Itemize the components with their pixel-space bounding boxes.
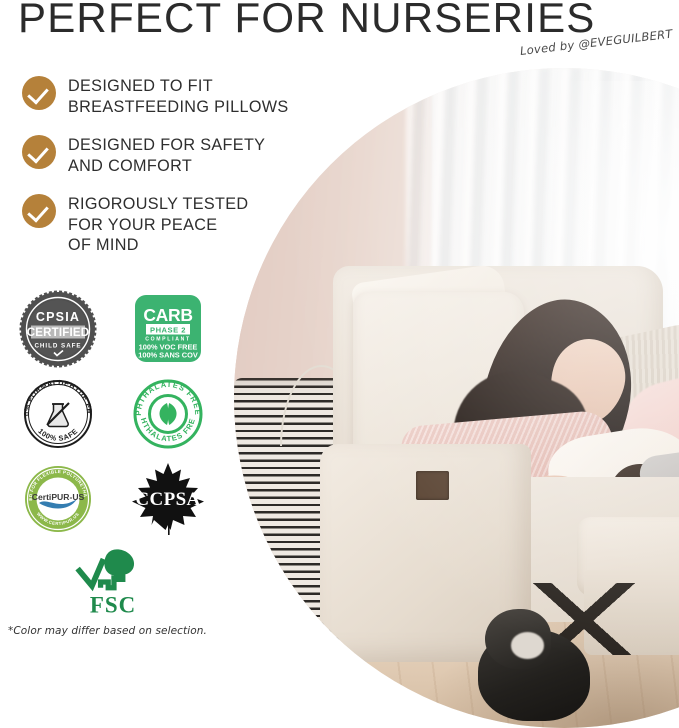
certipur-center-label: CertiPUR-US xyxy=(32,492,85,502)
certipur-us-badge-icon: CERTIFIED FOR FLEXIBLE POLYURETHANE FOAM… xyxy=(16,459,100,539)
ccpsa-maple-leaf-badge-icon: CCPSA xyxy=(126,459,210,539)
fsc-tree-shape xyxy=(78,549,134,587)
leaf-icon xyxy=(160,403,177,425)
feature-bullet-1-label: DESIGNED TO FIT BREASTFEEDING PILLOWS xyxy=(68,74,289,117)
badge-row-4: FSC xyxy=(14,541,212,621)
badge-certipur: CERTIFIED FOR FLEXIBLE POLYURETHANE FOAM… xyxy=(14,459,102,539)
badge-row-3: CERTIFIED FOR FLEXIBLE POLYURETHANE FOAM… xyxy=(14,456,214,541)
flask-icon xyxy=(47,403,69,427)
badge-phthalates: PHTHALATES FREE PHTHALATES FREE xyxy=(124,374,212,454)
lifestyle-photo-circle xyxy=(234,68,679,728)
feature-bullet-2-label: DESIGNED FOR SAFETY AND COMFORT xyxy=(68,133,265,176)
photo-dog-marking xyxy=(511,632,544,658)
carb-line2: PHASE 2 xyxy=(150,325,186,334)
badge-row-1: CPSIA CERTIFIED CHILD SAFE CARB PHASE 2 … xyxy=(14,286,214,371)
ccpsa-label: CCPSA xyxy=(135,489,200,510)
cpsia-certified-badge-icon: CPSIA CERTIFIED CHILD SAFE xyxy=(15,289,101,369)
check-circle-icon xyxy=(22,135,56,169)
fsc-label: FSC xyxy=(90,593,136,618)
color-disclaimer: *Color may differ based on selection. xyxy=(8,625,207,637)
badge-carb: CARB PHASE 2 COMPLIANT 100% VOC FREE 100… xyxy=(124,289,212,369)
badge-cpsia: CPSIA CERTIFIED CHILD SAFE xyxy=(14,289,102,369)
feature-bullet-3: RIGOROUSLY TESTED FOR YOUR PEACE OF MIND xyxy=(22,192,290,256)
formaldehyde-arc-bottom: 100% SAFE xyxy=(36,426,79,442)
carb-phase-2-badge-icon: CARB PHASE 2 COMPLIANT 100% VOC FREE 100… xyxy=(131,294,205,364)
cpsia-line3: CHILD SAFE xyxy=(34,342,81,349)
carb-line1: CARB xyxy=(143,305,192,325)
feature-bullet-3-label: RIGOROUSLY TESTED FOR YOUR PEACE OF MIND xyxy=(68,192,248,256)
carb-line5: 100% SANS COV xyxy=(138,350,198,359)
certification-badge-grid: CPSIA CERTIFIED CHILD SAFE CARB PHASE 2 … xyxy=(14,286,214,621)
badge-ccpsa: CCPSA xyxy=(124,459,212,539)
photo-recliner-power-button xyxy=(416,471,449,501)
page-title: PERFECT FOR NURSERIES xyxy=(18,0,596,42)
check-circle-icon xyxy=(22,76,56,110)
fsc-tree-badge-icon: FSC xyxy=(69,542,157,620)
cpsia-line1: CPSIA xyxy=(36,310,80,324)
phthalates-free-badge-icon: PHTHALATES FREE PHTHALATES FREE xyxy=(127,375,209,453)
feature-bullet-2: DESIGNED FOR SAFETY AND COMFORT xyxy=(22,133,290,176)
formaldehyde-free-badge-icon: 100% FORMALDEHYDE FREE 100% SAFE xyxy=(15,374,101,454)
feature-bullet-1: DESIGNED TO FIT BREASTFEEDING PILLOWS xyxy=(22,74,290,117)
check-circle-icon xyxy=(22,194,56,228)
badge-row-2: 100% FORMALDEHYDE FREE 100% SAFE xyxy=(14,371,214,456)
feature-bullet-list: DESIGNED TO FIT BREASTFEEDING PILLOWS DE… xyxy=(22,74,290,272)
badge-fsc: FSC xyxy=(69,541,157,621)
badge-formaldehyde: 100% FORMALDEHYDE FREE 100% SAFE xyxy=(14,374,102,454)
cpsia-line2: CERTIFIED xyxy=(27,326,90,338)
